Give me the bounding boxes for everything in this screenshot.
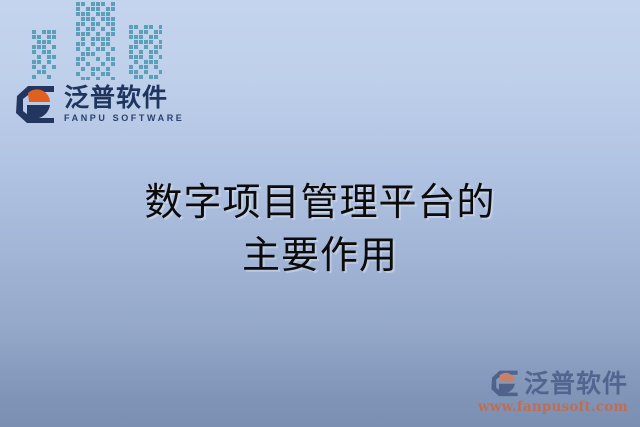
page-title-line-1: 数字项目管理平台的 xyxy=(0,176,640,229)
watermark-url: www.fanpusoft.com xyxy=(478,399,628,415)
brand-name-cn: 泛普软件 xyxy=(64,85,184,110)
brand-name-en: FANPU SOFTWARE xyxy=(64,114,184,123)
page-title: 数字项目管理平台的 主要作用 xyxy=(0,176,640,282)
fanpu-logo-mark xyxy=(14,84,56,124)
brand-logo: 泛普软件 FANPU SOFTWARE xyxy=(14,84,184,124)
watermark-logo-row: 泛普软件 xyxy=(490,369,628,397)
slide-canvas: 泛普软件 FANPU SOFTWARE 数字项目管理平台的 主要作用 泛普软件 … xyxy=(0,0,640,427)
watermark: 泛普软件 www.fanpusoft.com xyxy=(478,369,628,415)
page-title-line-2: 主要作用 xyxy=(0,229,640,282)
brand-logo-wordmark: 泛普软件 FANPU SOFTWARE xyxy=(64,85,184,123)
fanpu-logo-mark-watermark xyxy=(490,369,519,397)
pixel-city-skyline xyxy=(32,0,162,80)
watermark-brand-cn: 泛普软件 xyxy=(524,371,628,396)
